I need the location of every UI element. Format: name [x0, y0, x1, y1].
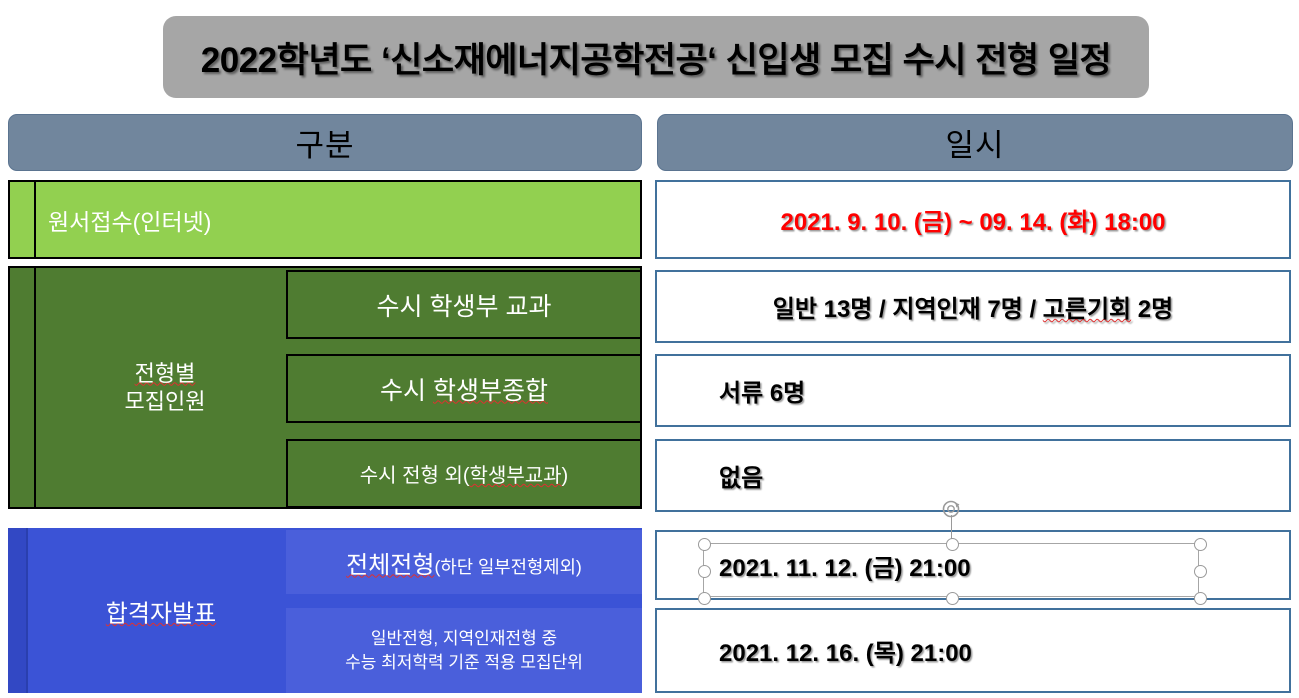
subcategory-cell-all-types[interactable]: 전체전형(하단 일부전형제외): [286, 530, 642, 594]
column-header-date-label: 일시: [945, 120, 1004, 165]
value-cell-all-types[interactable]: 2021. 11. 12. (금) 21:00: [655, 530, 1291, 600]
value-text-application: 2021. 9. 10. (금) ~ 09. 14. (화) 18:00: [780, 202, 1165, 237]
subcategory-cell-jonghap[interactable]: 수시 학생부종합: [286, 354, 642, 423]
subcategory-label-jonghap-squiggle: 학생부종합: [433, 377, 548, 405]
category-label-quota-line1: 전형별: [135, 360, 196, 385]
category-spine-divider: [26, 528, 28, 693]
subcategory-label-all-main: 전체전형: [346, 552, 434, 579]
presentation-slide: 2022학년도 ‘신소재에너지공학전공‘ 신입생 모집 수시 전형 일정 구분 …: [0, 0, 1299, 698]
category-label-application: 원서접수(인터넷): [48, 203, 211, 237]
value-text-some-types: 2021. 12. 16. (목) 21:00: [657, 633, 972, 668]
subcategory-label-jonghap-prefix: 수시: [380, 377, 433, 405]
subcategory-label-etc: 수시 전형 외(학생부교과): [360, 459, 568, 488]
value-text-all-types: 2021. 11. 12. (금) 21:00: [657, 548, 971, 583]
slide-title-bar[interactable]: 2022학년도 ‘신소재에너지공학전공‘ 신입생 모집 수시 전형 일정: [163, 16, 1149, 98]
value-text-gyogwa-prefix: 일반 13명 / 지역인재 7명 /: [773, 296, 1043, 323]
category-left-band: [8, 528, 26, 693]
value-cell-jonghap[interactable]: 서류 6명: [655, 354, 1291, 427]
value-text-gyogwa-squiggle: 고른기회: [1043, 296, 1131, 323]
value-text-gyogwa-suffix: 2명: [1131, 296, 1173, 323]
slide-title-text: 2022학년도 ‘신소재에너지공학전공‘ 신입생 모집 수시 전형 일정: [201, 32, 1111, 83]
subcategory-label-etc-suffix: ): [562, 465, 569, 487]
subcategory-label-some-line2: 수능 최저학력 기준 적용 모집단위: [345, 653, 583, 672]
value-cell-application[interactable]: 2021. 9. 10. (금) ~ 09. 14. (화) 18:00: [655, 180, 1291, 259]
subcategory-cell-gyogwa[interactable]: 수시 학생부 교과: [286, 270, 642, 339]
value-cell-some-types[interactable]: 2021. 12. 16. (목) 21:00: [655, 608, 1291, 693]
category-label-quota-line2: 모집인원: [125, 389, 206, 414]
value-text-etc: 없음: [657, 458, 763, 493]
subcategory-label-etc-squiggle: 학생부교과: [470, 465, 562, 487]
subcategory-label-etc-prefix: 수시 전형 외(: [360, 465, 470, 487]
subcategory-label-gyogwa: 수시 학생부 교과: [377, 287, 552, 323]
subcategory-cell-some-types[interactable]: 일반전형, 지역인재전형 중수능 최저학력 기준 적용 모집단위: [286, 608, 642, 693]
value-cell-gyogwa[interactable]: 일반 13명 / 지역인재 7명 / 고른기회 2명: [655, 270, 1291, 343]
column-header-category[interactable]: 구분: [8, 114, 642, 171]
category-label-quota: 전형별모집인원: [36, 359, 294, 415]
category-spine-divider: [34, 182, 36, 257]
subcategory-cell-etc[interactable]: 수시 전형 외(학생부교과): [286, 439, 642, 508]
value-text-jonghap: 서류 6명: [657, 373, 805, 408]
category-block-application[interactable]: 원서접수(인터넷): [8, 180, 642, 259]
subcategory-label-some-types: 일반전형, 지역인재전형 중수능 최저학력 기준 적용 모집단위: [345, 627, 583, 675]
column-header-category-label: 구분: [295, 120, 354, 165]
column-header-date[interactable]: 일시: [657, 114, 1293, 171]
category-label-result: 합격자발표: [30, 593, 292, 628]
subcategory-label-jonghap: 수시 학생부종합: [380, 371, 548, 407]
subcategory-label-all-types: 전체전형(하단 일부전형제외): [346, 545, 582, 580]
subcategory-label-some-line1: 일반전형, 지역인재전형 중: [371, 629, 557, 648]
value-text-gyogwa: 일반 13명 / 지역인재 7명 / 고른기회 2명: [657, 289, 1289, 324]
value-cell-etc[interactable]: 없음: [655, 439, 1291, 512]
subcategory-label-all-note: (하단 일부전형제외): [434, 557, 581, 577]
